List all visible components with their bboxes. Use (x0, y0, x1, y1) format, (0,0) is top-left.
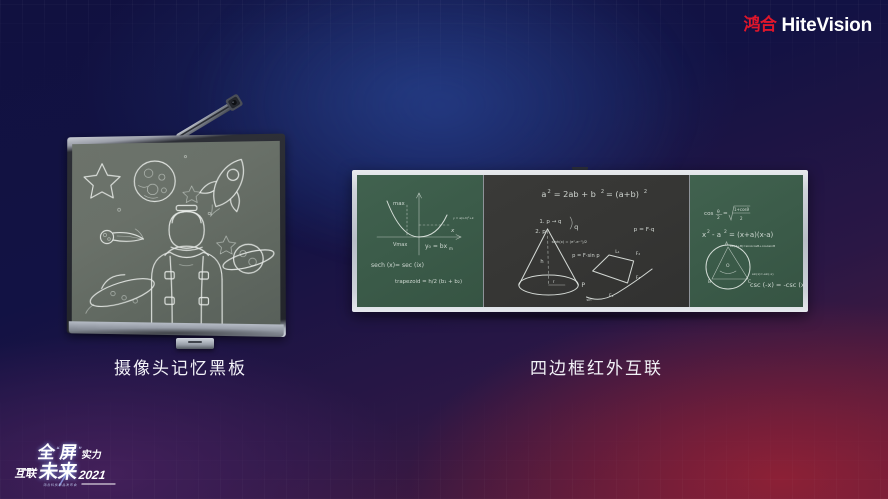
saturn-planet (221, 244, 276, 274)
trig-circle-drawing: cos θ 2 = 1+cosθ 2 x 2 - a 2 = (x+a)(x-a… (690, 175, 803, 307)
caption-right: 四边框红外互联 (530, 354, 663, 379)
blackboard-screen[interactable] (72, 141, 281, 325)
event-logo-hulian: 互联 (14, 468, 38, 482)
svg-text:1. p → q: 1. p → q (539, 219, 561, 225)
svg-text:2: 2 (644, 189, 647, 195)
svg-text:P: P (581, 282, 585, 289)
svg-text:q: q (574, 223, 578, 231)
brand-logo-cn: 鸿合 (743, 17, 776, 34)
blackboard-body (67, 134, 286, 337)
brand-logo-en: HiteVision (781, 16, 872, 35)
svg-text:y = a(x-h)²+k: y = a(x-h)²+k (453, 216, 474, 220)
svg-text:F₁: F₁ (609, 293, 614, 299)
event-logo-year: 2021 (78, 469, 107, 482)
svg-text:θ: θ (717, 209, 720, 215)
svg-text:y₀ = bx: y₀ = bx (425, 243, 448, 250)
svg-text:L₁: L₁ (615, 249, 620, 255)
svg-text:m: m (449, 246, 453, 251)
svg-text:sin(x)=-sin(-x): sin(x)=-sin(-x) (752, 272, 774, 276)
event-logo-shili: 实力 (81, 451, 103, 462)
event-logo-line1: 全 “ 屏 ” 实力 (37, 445, 103, 462)
event-logo-quan: 全 (37, 445, 56, 462)
event-logo: 全 “ 屏 ” 实力 互联 未来 2021 鸿合科技新品发布会 (11, 443, 137, 489)
svg-text:2: 2 (724, 229, 727, 235)
device-infrared-blackboard: max x Vmax y₀ = bx m y = a(x-h)²+k sech … (352, 170, 808, 312)
svg-text:1+cosθ: 1+cosθ (734, 207, 750, 212)
svg-text:2: 2 (740, 216, 743, 221)
svg-text:F₃: F₃ (636, 275, 641, 281)
svg-text:p = F·q: p = F·q (634, 227, 655, 233)
svg-text:2: 2 (717, 215, 720, 221)
svg-text:Vmax: Vmax (393, 242, 407, 248)
svg-text:2: 2 (548, 189, 551, 195)
device-camera-blackboard (58, 82, 290, 342)
svg-text:= (x+a)(x-a): = (x+a)(x-a) (729, 231, 774, 239)
planet-cratered (134, 161, 175, 202)
svg-text:sin(A+B)=sinAcosB+cosAsinB: sin(A+B)=sinAcosB+cosAsinB (730, 244, 775, 248)
svg-text:A: A (725, 241, 729, 247)
svg-text:h: h (540, 259, 543, 265)
circle-triangle-diagram: A O B C (706, 241, 751, 289)
event-logo-subtitle: 鸿合科技新品发布会 (43, 482, 78, 487)
astronaut-drawing (152, 205, 223, 323)
svg-text:2: 2 (707, 229, 710, 235)
slide-stage: 鸿合 HiteVision (0, 0, 888, 499)
panel-center-dark[interactable]: a 2 = 2ab + b 2 = (a+b) 2 1. p → q 2. p … (484, 175, 690, 307)
svg-text:a: a (541, 189, 546, 199)
svg-text:O: O (726, 263, 730, 269)
caption-left: 摄像头记忆黑板 (114, 354, 247, 379)
ufo-icon (86, 272, 157, 314)
svg-text:=: = (723, 211, 728, 217)
cone-diagram: h r P (519, 229, 586, 295)
svg-text:sin: sin (587, 298, 592, 302)
graph-formulas-drawing: max x Vmax y₀ = bx m y = a(x-h)²+k sech … (357, 175, 483, 307)
svg-text:B: B (708, 279, 711, 285)
rocket-icon (192, 150, 260, 226)
panel-right-green[interactable]: cos θ 2 = 1+cosθ 2 x 2 - a 2 = (x+a)(x-a… (690, 175, 803, 307)
event-logo-weilai: 未来 (38, 463, 79, 482)
svg-text:2: 2 (601, 189, 604, 195)
blackboard-frame: max x Vmax y₀ = bx m y = a(x-h)²+k sech … (352, 170, 808, 312)
event-logo-line2: 互联 未来 2021 (14, 463, 107, 482)
space-doodles-drawing (72, 141, 281, 325)
svg-text:= 2ab + b: = 2ab + b (554, 189, 596, 199)
svg-text:sech (x)= sec (ix): sech (x)= sec (ix) (371, 262, 424, 269)
svg-text:x: x (450, 228, 455, 234)
svg-text:r: r (553, 279, 555, 285)
svg-text:- a: - a (712, 231, 721, 239)
svg-text:trapezoid = h/2 (b₁ + b₂): trapezoid = h/2 (b₁ + b₂) (395, 279, 462, 285)
device-shadow (64, 328, 279, 338)
svg-text:csc (-x) = -csc (x): csc (-x) = -csc (x) (750, 281, 803, 289)
svg-text:cos: cos (704, 211, 713, 217)
svg-text:max: max (393, 201, 406, 207)
svg-text:x: x (702, 231, 706, 239)
brand-logo: 鸿合 HiteVision (743, 16, 872, 35)
device-shadow (362, 311, 798, 321)
blackboard-control-module[interactable] (176, 338, 214, 349)
comet-icon (100, 229, 143, 244)
svg-text:sinh(x) = (eˣ-e⁻ˣ)/2: sinh(x) = (eˣ-e⁻ˣ)/2 (552, 240, 587, 244)
event-logo-ping: 屏 (59, 445, 78, 462)
svg-text:p = F·sin p: p = F·sin p (572, 253, 600, 259)
svg-text:F₂: F₂ (636, 251, 641, 257)
svg-text:= (a+b): = (a+b) (606, 189, 639, 199)
cone-geometry-drawing: a 2 = 2ab + b 2 = (a+b) 2 1. p → q 2. p … (484, 175, 689, 307)
panel-left-green[interactable]: max x Vmax y₀ = bx m y = a(x-h)²+k sech … (357, 175, 484, 307)
